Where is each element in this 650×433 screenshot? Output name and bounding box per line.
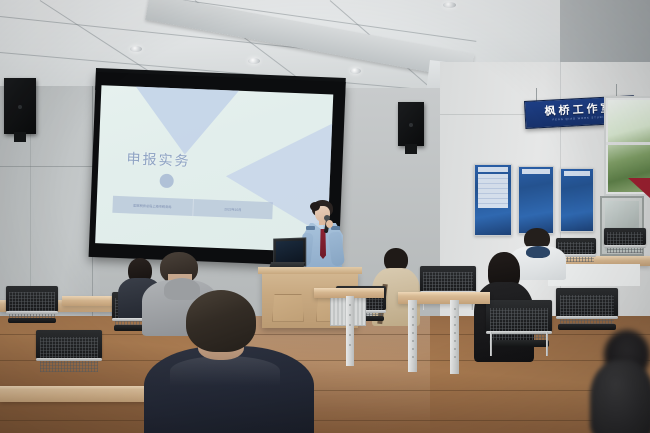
head xyxy=(186,290,256,352)
downlight-icon xyxy=(248,58,260,64)
chair xyxy=(604,228,646,258)
slide-surface: 申报实务 国家税务总局上海市税务局 2023年10月 xyxy=(95,85,333,252)
chair xyxy=(556,288,618,338)
downlight-icon xyxy=(350,68,361,74)
slide-logo-icon xyxy=(159,174,174,189)
slide-chevron-shape xyxy=(95,85,290,158)
wall-poster xyxy=(560,168,594,232)
slide-title: 申报实务 xyxy=(126,148,191,171)
slide-footer-cell: 2023年10月 xyxy=(193,199,273,219)
slide-footer-bar: 国家税务总局上海市税务局 2023年10月 xyxy=(112,196,273,219)
podium-top-surface xyxy=(258,267,362,274)
audience-member-foreground-navy-suit xyxy=(150,290,300,433)
wall-poster xyxy=(518,166,554,234)
presenter-hand xyxy=(326,220,333,228)
presenter-epaulette xyxy=(306,226,315,230)
presenter-hair-bun xyxy=(310,202,320,211)
shoulder-highlight xyxy=(170,356,280,386)
presenter-tie xyxy=(320,229,326,259)
desk-leg xyxy=(408,300,417,372)
laptop-display xyxy=(276,241,303,264)
chair xyxy=(6,286,58,330)
desk-leg xyxy=(346,296,354,366)
classroom-photo: 申报实务 国家税务总局上海市税务局 2023年10月 枫桥工作室 FENG QI… xyxy=(0,0,650,433)
window-mullion xyxy=(606,142,650,145)
presenter-epaulette xyxy=(331,226,340,230)
chair xyxy=(486,300,552,356)
downlight-icon xyxy=(443,2,456,8)
chair xyxy=(36,330,102,380)
downlight-icon xyxy=(130,46,142,52)
slide-footer-cell: 国家税务总局上海市税务局 xyxy=(112,196,193,216)
foreground-blur-body xyxy=(590,360,650,433)
ceiling-beam xyxy=(145,0,474,80)
wall-poster xyxy=(474,164,512,236)
wall-speaker-left xyxy=(4,78,36,134)
desk-leg xyxy=(450,300,459,374)
wall-speaker-right xyxy=(398,102,424,146)
